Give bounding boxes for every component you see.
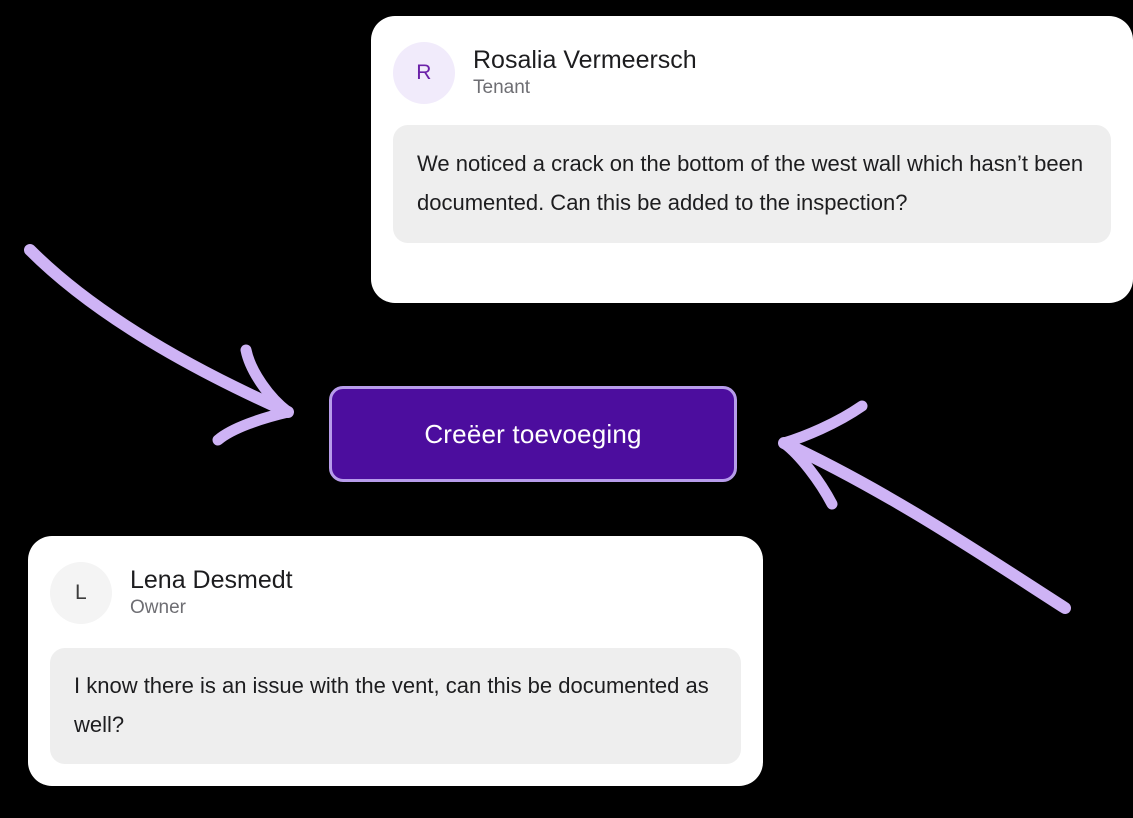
person-role: Owner [130,597,293,620]
identity-block: Lena Desmedt Owner [130,566,293,620]
avatar: L [50,562,112,624]
avatar: R [393,42,455,104]
screen: R Rosalia Vermeersch Tenant We noticed a… [0,0,1133,818]
identity-block: Rosalia Vermeersch Tenant [473,46,697,100]
message-card-tenant: R Rosalia Vermeersch Tenant We noticed a… [371,16,1133,303]
message-header: R Rosalia Vermeersch Tenant [393,42,1111,104]
left-pointer-arrow [30,250,288,440]
message-header: L Lena Desmedt Owner [50,562,741,624]
create-addition-button[interactable]: Creëer toevoeging [329,386,737,482]
person-name: Rosalia Vermeersch [473,46,697,75]
message-bubble: We noticed a crack on the bottom of the … [393,125,1111,243]
person-role: Tenant [473,77,697,100]
message-bubble: I know there is an issue with the vent, … [50,648,741,764]
person-name: Lena Desmedt [130,566,293,595]
message-card-owner: L Lena Desmedt Owner I know there is an … [28,536,763,786]
right-pointer-arrow [784,406,1065,608]
